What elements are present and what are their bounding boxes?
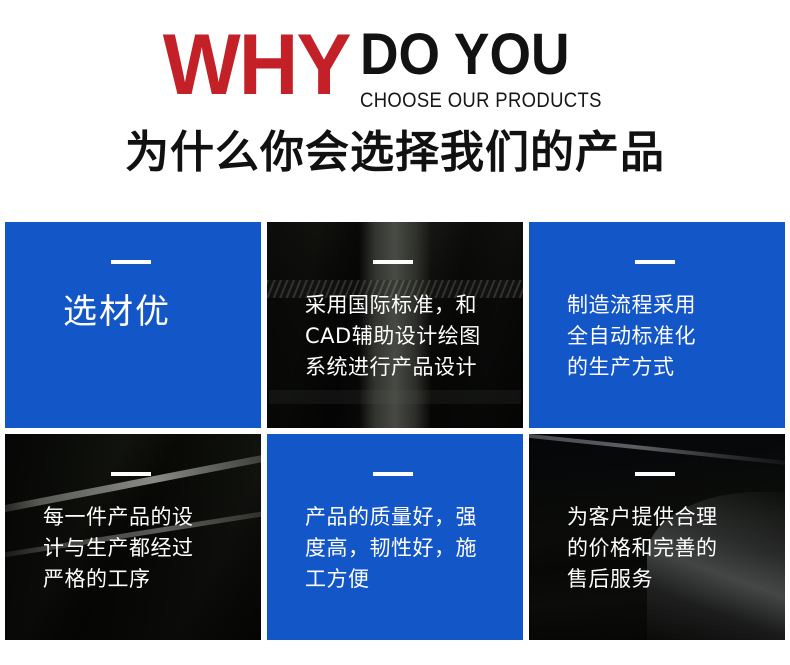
feature-cell-4: 每一件产品的设 计与生产都经过 严格的工序 [5, 434, 261, 640]
headline-why: WHY [163, 22, 350, 108]
headline-row: WHY DO YOU CHOOSE OUR PRODUCTS [0, 22, 790, 114]
feature-cell-1: 选材优 [5, 222, 261, 428]
subtitle-chinese: 为什么你会选择我们的产品 [0, 125, 790, 181]
headline-do-you: DO YOU [360, 26, 613, 84]
feature-cell-1-text: 选材优 [43, 290, 171, 334]
feature-cell-6: 为客户提供合理 的价格和完善的 售后服务 [529, 434, 785, 640]
feature-cell-5: 产品的质量好，强 度高，韧性好，施 工方便 [267, 434, 523, 640]
feature-cell-6-text: 为客户提供合理 的价格和完善的 售后服务 [567, 502, 718, 595]
feature-cell-1-inner: 选材优 [5, 222, 261, 428]
headline-right-group: DO YOU CHOOSE OUR PRODUCTS [360, 22, 635, 113]
feature-cell-2-inner: 采用国际标准，和 CAD辅助设计绘图 系统进行产品设计 [267, 222, 523, 428]
feature-cell-5-text: 产品的质量好，强 度高，韧性好，施 工方便 [305, 502, 477, 595]
divider-dash-icon [111, 472, 151, 476]
divider-dash-icon [373, 260, 413, 264]
feature-grid: 选材优 采用国际标准，和 CAD辅助设计绘图 系统进行产品设计 制造流程采用 全… [5, 222, 785, 640]
promo-banner: WHY DO YOU CHOOSE OUR PRODUCTS 为什么你会选择我们… [0, 0, 790, 665]
divider-dash-icon [373, 472, 413, 476]
feature-cell-4-inner: 每一件产品的设 计与生产都经过 严格的工序 [5, 434, 261, 640]
feature-cell-3: 制造流程采用 全自动标准化 的生产方式 [529, 222, 785, 428]
feature-cell-4-text: 每一件产品的设 计与生产都经过 严格的工序 [43, 502, 194, 595]
headline-choose-our-products: CHOOSE OUR PRODUCTS [360, 89, 602, 113]
feature-cell-3-text: 制造流程采用 全自动标准化 的生产方式 [567, 290, 696, 383]
feature-cell-6-inner: 为客户提供合理 的价格和完善的 售后服务 [529, 434, 785, 640]
feature-cell-2-text: 采用国际标准，和 CAD辅助设计绘图 系统进行产品设计 [305, 290, 481, 383]
divider-dash-icon [635, 260, 675, 264]
divider-dash-icon [111, 260, 151, 264]
banner-header: WHY DO YOU CHOOSE OUR PRODUCTS 为什么你会选择我们… [0, 0, 790, 215]
feature-cell-2: 采用国际标准，和 CAD辅助设计绘图 系统进行产品设计 [267, 222, 523, 428]
divider-dash-icon [635, 472, 675, 476]
feature-cell-5-inner: 产品的质量好，强 度高，韧性好，施 工方便 [267, 434, 523, 640]
feature-cell-3-inner: 制造流程采用 全自动标准化 的生产方式 [529, 222, 785, 428]
